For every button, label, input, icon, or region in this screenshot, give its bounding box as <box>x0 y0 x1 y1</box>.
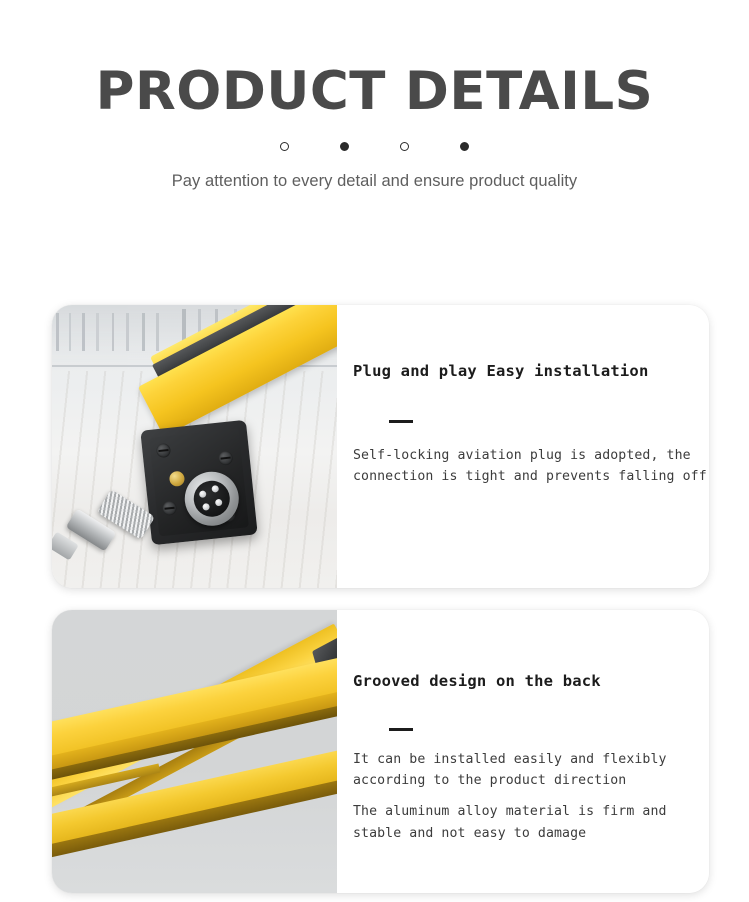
card-description: It can be installed easily and flexibly … <box>353 749 709 792</box>
detail-card-grooved-design: Grooved design on the back It can be ins… <box>52 610 709 893</box>
brass-bolt-icon <box>169 471 185 487</box>
page-subtitle: Pay attention to every detail and ensure… <box>0 172 749 191</box>
photo-crossed-profiles-scene <box>52 610 337 893</box>
dot-indicator-2 <box>340 142 349 151</box>
product-photo-aviation-plug <box>52 305 337 588</box>
dot-indicator-group <box>0 142 749 151</box>
page-title: PRODUCT DETAILS <box>0 64 749 120</box>
dot-indicator-1 <box>280 142 289 151</box>
screw-icon <box>162 501 177 516</box>
card-heading: Grooved design on the back <box>353 672 709 690</box>
screw-icon <box>156 443 171 458</box>
black-end-cap-housing <box>140 420 257 545</box>
detail-card-text-panel: Plug and play Easy installation Self-loc… <box>337 305 709 588</box>
end-cap-face <box>149 429 249 537</box>
page-header: PRODUCT DETAILS Pay attention to every d… <box>0 0 749 191</box>
socket-pin <box>215 499 223 507</box>
card-description: The aluminum alloy material is firm and … <box>353 801 709 844</box>
dot-indicator-3 <box>400 142 409 151</box>
detail-card-plug-and-play: Plug and play Easy installation Self-loc… <box>52 305 709 588</box>
heading-divider <box>389 420 413 423</box>
socket-inner-ring <box>192 479 232 519</box>
product-photo-grooved-profiles <box>52 610 337 893</box>
card-description: Self-locking aviation plug is adopted, t… <box>353 445 709 488</box>
card-heading: Plug and play Easy installation <box>353 362 709 380</box>
detail-card-text-panel: Grooved design on the back It can be ins… <box>337 610 709 893</box>
photo-light-curtain-scene <box>52 305 337 588</box>
dot-indicator-4 <box>460 142 469 151</box>
heading-divider <box>389 728 413 731</box>
socket-pin <box>211 485 219 493</box>
socket-pin <box>199 490 207 498</box>
socket-pin <box>202 503 210 511</box>
screw-icon <box>218 450 233 465</box>
